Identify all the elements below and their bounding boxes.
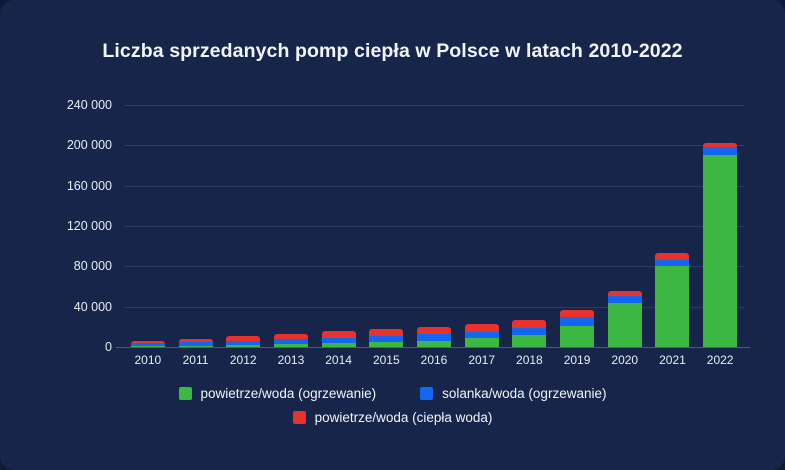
- bar-segment-2022-0: [703, 155, 737, 347]
- legend-item[interactable]: solanka/woda (ogrzewanie): [420, 386, 606, 401]
- legend-item-label: powietrze/woda (ogrzewanie): [201, 386, 377, 401]
- bar-2016[interactable]: [417, 327, 451, 347]
- x-axis-tick-label-2016: 2016: [410, 353, 458, 367]
- bar-segment-2018-2: [512, 320, 546, 328]
- x-axis-labels: 2010201120122013201420152016201720182019…: [124, 353, 744, 375]
- legend-item-label: solanka/woda (ogrzewanie): [442, 386, 606, 401]
- bar-segment-2016-2: [417, 327, 451, 334]
- bar-segment-2019-2: [560, 310, 594, 317]
- y-axis-tick-label: 120 000: [16, 219, 112, 233]
- legend-item[interactable]: powietrze/woda (ciepła woda): [293, 410, 493, 425]
- bar-segment-2022-1: [703, 147, 737, 155]
- bar-2022[interactable]: [703, 143, 737, 347]
- legend-row: powietrze/woda (ciepła woda): [0, 410, 785, 425]
- bar-2018[interactable]: [512, 320, 546, 347]
- x-axis-tick-label-2019: 2019: [553, 353, 601, 367]
- bar-segment-2018-0: [512, 335, 546, 347]
- x-axis-tick-label-2010: 2010: [124, 353, 172, 367]
- bars-layer: [124, 105, 744, 347]
- x-axis-tick-label-2022: 2022: [696, 353, 744, 367]
- bar-2020[interactable]: [608, 291, 642, 347]
- y-axis-tick-label: 200 000: [16, 138, 112, 152]
- bar-2014[interactable]: [322, 331, 356, 347]
- x-axis-tick-label-2020: 2020: [601, 353, 649, 367]
- bar-2017[interactable]: [465, 324, 499, 347]
- bar-2015[interactable]: [369, 329, 403, 347]
- legend-row: powietrze/woda (ogrzewanie)solanka/woda …: [0, 386, 785, 401]
- chart-title: Liczba sprzedanych pomp ciepła w Polsce …: [0, 40, 785, 63]
- y-axis-tick-label: 240 000: [16, 98, 112, 112]
- legend-swatch-green: [179, 387, 192, 400]
- bar-2012[interactable]: [226, 336, 260, 347]
- bar-2019[interactable]: [560, 310, 594, 347]
- bar-segment-2019-0: [560, 326, 594, 347]
- legend-swatch-blue: [420, 387, 433, 400]
- bar-segment-2018-1: [512, 328, 546, 335]
- x-axis-line: [116, 347, 750, 348]
- x-axis-tick-label-2015: 2015: [362, 353, 410, 367]
- legend-swatch-red: [293, 411, 306, 424]
- x-axis-tick-label-2017: 2017: [458, 353, 506, 367]
- x-axis-tick-label-2013: 2013: [267, 353, 315, 367]
- bar-segment-2017-0: [465, 338, 499, 347]
- y-axis-tick-label: 80 000: [16, 259, 112, 273]
- bar-segment-2021-0: [655, 266, 689, 347]
- x-axis-tick-label-2021: 2021: [648, 353, 696, 367]
- x-axis-tick-label-2012: 2012: [219, 353, 267, 367]
- y-axis-tick-label: 160 000: [16, 179, 112, 193]
- y-axis-tick-label: 40 000: [16, 300, 112, 314]
- y-axis-labels: 240 000200 000160 000120 00080 00040 000…: [0, 105, 112, 347]
- legend-item[interactable]: powietrze/woda (ogrzewanie): [179, 386, 377, 401]
- bar-segment-2017-2: [465, 324, 499, 332]
- chart-legend: powietrze/woda (ogrzewanie)solanka/woda …: [0, 386, 785, 434]
- y-axis-tick-label: 0: [16, 340, 112, 354]
- legend-item-label: powietrze/woda (ciepła woda): [315, 410, 493, 425]
- bar-2021[interactable]: [655, 253, 689, 347]
- bar-segment-2020-1: [608, 296, 642, 303]
- bar-segment-2019-1: [560, 317, 594, 326]
- x-axis-tick-label-2011: 2011: [172, 353, 220, 367]
- chart-card: Liczba sprzedanych pomp ciepła w Polsce …: [0, 0, 785, 470]
- bar-2011[interactable]: [179, 339, 213, 347]
- x-axis-tick-label-2018: 2018: [505, 353, 553, 367]
- bar-2013[interactable]: [274, 334, 308, 347]
- x-axis-tick-label-2014: 2014: [315, 353, 363, 367]
- bar-segment-2015-2: [369, 329, 403, 336]
- bar-segment-2020-0: [608, 303, 642, 347]
